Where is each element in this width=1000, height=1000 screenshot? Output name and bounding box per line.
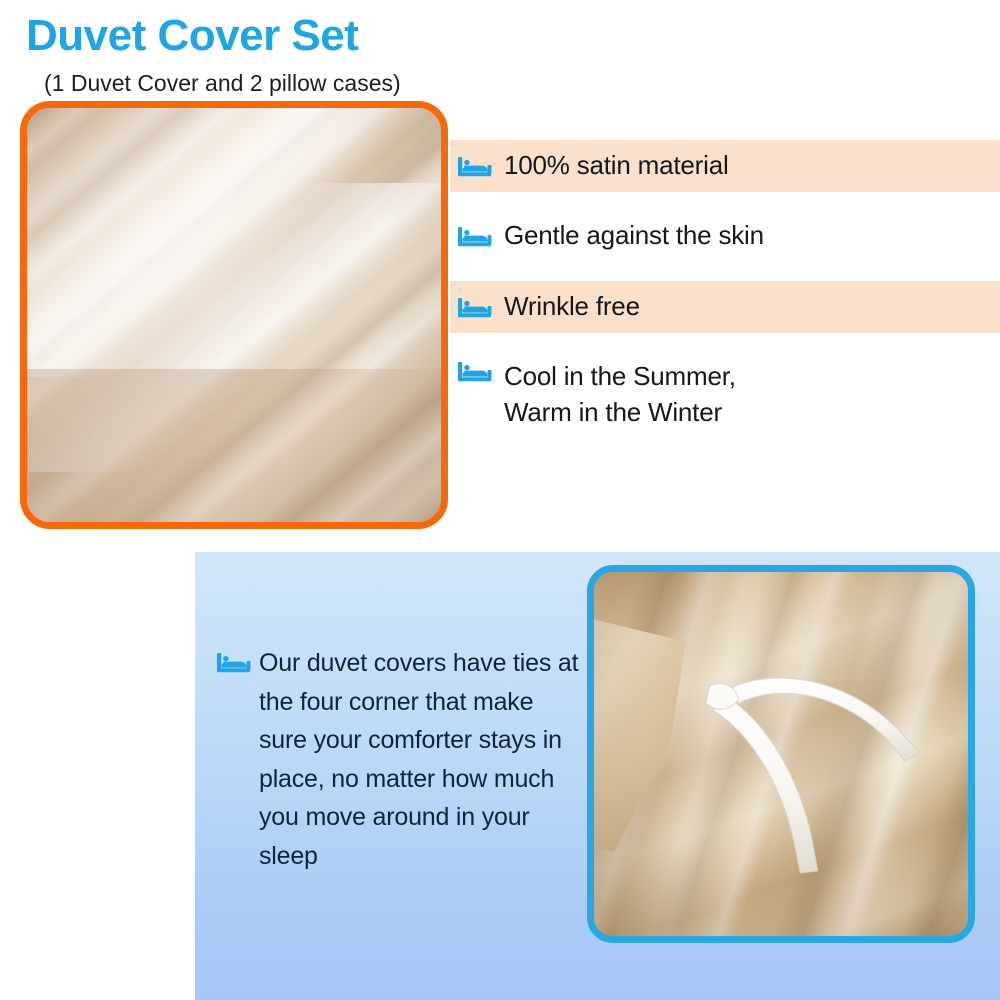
bed-icon (458, 295, 502, 319)
ties-description: Our duvet covers have ties at the four c… (217, 644, 587, 875)
ties-description-text: Our duvet covers have ties at the four c… (259, 644, 587, 875)
bed-icon (217, 644, 259, 674)
feature-label: 100% satin material (502, 148, 729, 184)
infographic-canvas: Duvet Cover Set (1 Duvet Cover and 2 pil… (0, 0, 1000, 1000)
page-subtitle: (1 Duvet Cover and 2 pillow cases) (44, 72, 401, 95)
bed-icon (458, 154, 502, 178)
feature-item: Cool in the Summer, Warm in the Winter (450, 350, 1000, 431)
corner-ties-photo (587, 565, 975, 943)
satin-vignette (27, 108, 441, 522)
bed-icon (458, 224, 502, 248)
feature-item: 100% satin material (450, 140, 1000, 192)
page-title: Duvet Cover Set (26, 14, 358, 58)
feature-label: Wrinkle free (502, 289, 640, 325)
feature-item: Gentle against the skin (450, 210, 1000, 262)
tie-photo-vignette (594, 572, 968, 936)
satin-fabric-photo (20, 101, 448, 529)
bed-icon (458, 359, 502, 383)
feature-item: Wrinkle free (450, 281, 1000, 333)
feature-list: 100% satin material Gentle against the s… (450, 140, 1000, 431)
feature-label: Gentle against the skin (502, 218, 764, 254)
feature-label: Cool in the Summer, Warm in the Winter (502, 359, 736, 431)
